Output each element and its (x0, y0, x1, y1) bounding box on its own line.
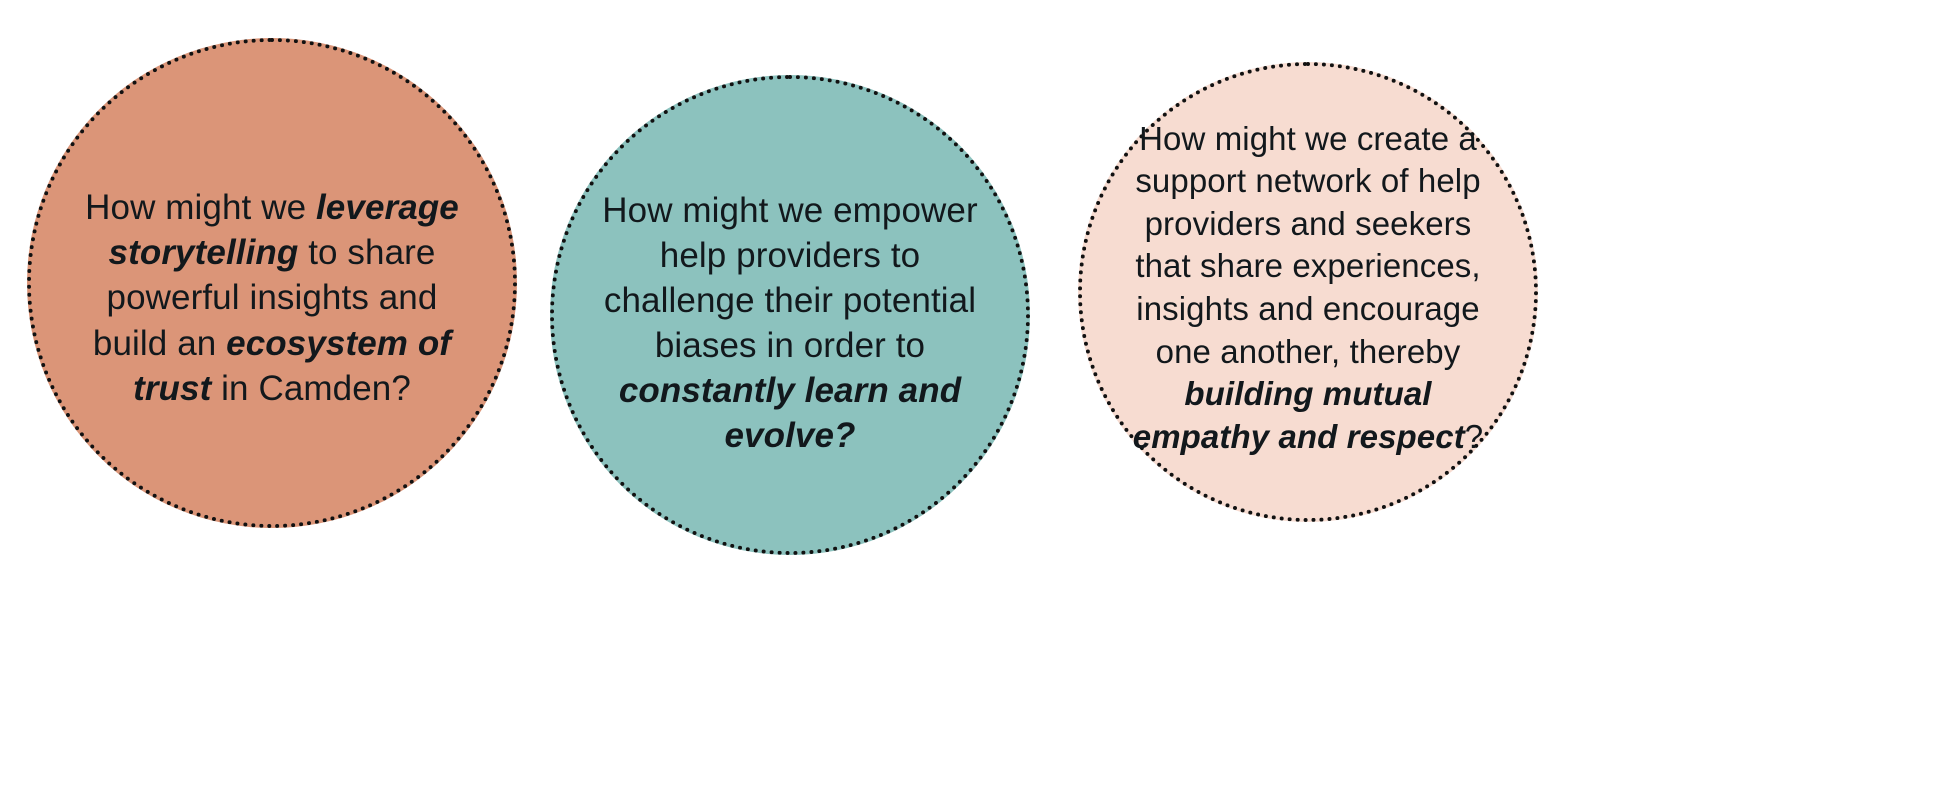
hmw-circle-storytelling-text: How might we leverage storytelling to sh… (64, 185, 480, 411)
hmw-circle-biases-text: How might we empower help providers to c… (575, 188, 1006, 459)
hmw-circle-support-network[interactable]: How might we create a support network of… (1078, 62, 1538, 522)
hmw-circle-support-network-text: How might we create a support network of… (1105, 118, 1511, 459)
hmw-circle-biases[interactable]: How might we empower help providers to c… (550, 75, 1030, 555)
hmw-circles-board: How might we leverage storytelling to sh… (0, 0, 1958, 794)
hmw-circle-storytelling[interactable]: How might we leverage storytelling to sh… (27, 38, 517, 528)
